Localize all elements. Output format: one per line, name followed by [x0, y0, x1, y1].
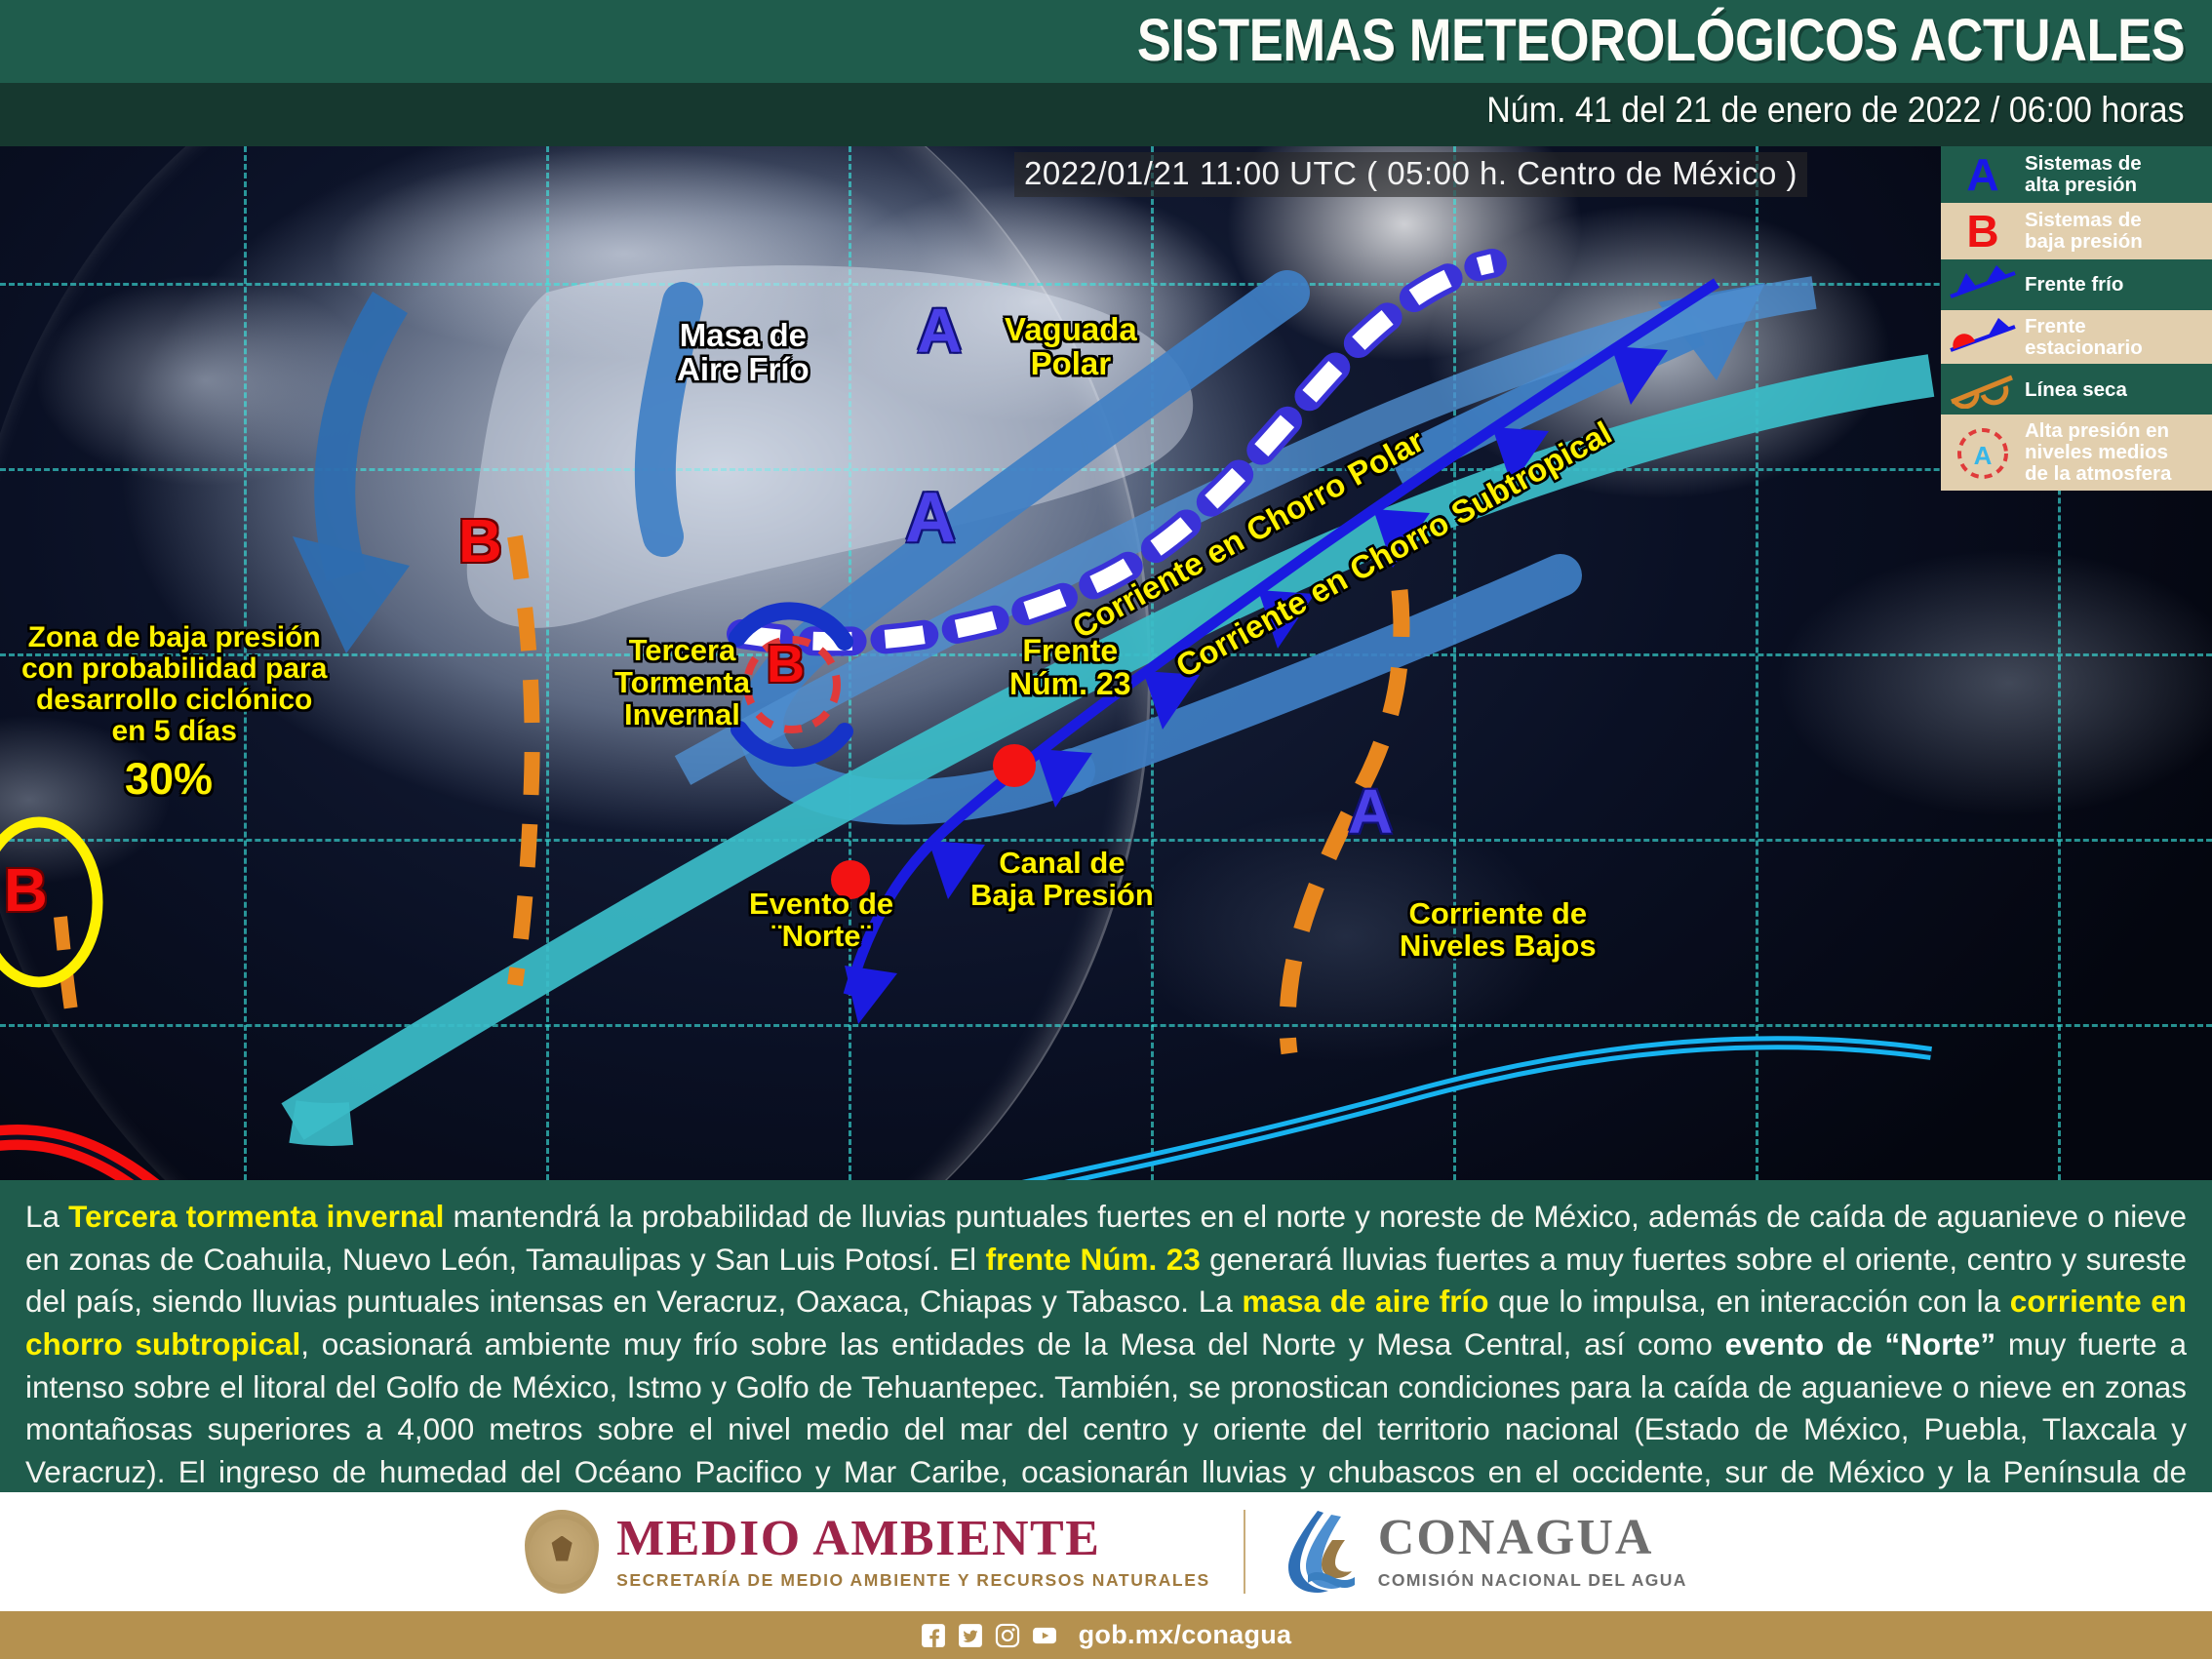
low-pressure-marker-cyclogenesis: B: [4, 856, 48, 926]
label-tercera-tormenta-invernal: TerceraTormentaInvernal: [614, 634, 750, 731]
conagua-logo: CONAGUA COMISIÓN NACIONAL DEL AGUA: [1279, 1507, 1687, 1597]
social-url[interactable]: gob.mx/conagua: [1079, 1620, 1292, 1650]
legend-row-linea-seca: Línea seca: [1941, 364, 2212, 415]
conagua-water-drop-icon: [1279, 1507, 1363, 1597]
satellite-timestamp: 2022/01/21 11:00 UTC ( 05:00 h. Centro d…: [1014, 152, 1807, 197]
low-pressure-marker-winter-storm: B: [767, 634, 805, 694]
instagram-icon[interactable]: [995, 1623, 1020, 1648]
legend-row-alta-niveles-medios: A Alta presión enniveles mediosde la atm…: [1941, 415, 2212, 490]
youtube-icon[interactable]: [1032, 1623, 1057, 1648]
label-frente-23: FrenteNúm. 23: [1009, 634, 1130, 700]
low-pressure-marker-pacific: B: [458, 507, 502, 576]
page-header: SISTEMAS METEOROLÓGICOS ACTUALES Núm. 41…: [0, 0, 2212, 146]
page-subtitle: Núm. 41 del 21 de enero de 2022 / 06:00 …: [1487, 90, 2185, 131]
letter-B-red-icon: B: [1947, 209, 2019, 254]
letter-A-blue-icon: A: [1947, 152, 2019, 197]
page-title: SISTEMAS METEOROLÓGICOS ACTUALES: [1137, 6, 2185, 74]
satellite-map: 2022/01/21 11:00 UTC ( 05:00 h. Centro d…: [0, 146, 2212, 1180]
legend-label-linea-seca: Línea seca: [2025, 379, 2127, 401]
forecast-paragraph: La Tercera tormenta invernal mantendrá l…: [0, 1180, 2212, 1492]
mid-level-high-icon: A: [1947, 423, 2019, 482]
mexican-coat-of-arms-icon: [525, 1510, 599, 1594]
label-vaguada-polar: VaguadaPolar: [1005, 312, 1137, 381]
label-zona-baja-presion: Zona de baja presióncon probabilidad par…: [21, 622, 327, 747]
dry-line-icon: [1947, 370, 2019, 409]
legend-row-alta-presion: A Sistemas dealta presión: [1941, 146, 2212, 203]
twitter-icon[interactable]: [958, 1623, 983, 1648]
medio-ambiente-logo: MEDIO AMBIENTE SECRETARÍA DE MEDIO AMBIE…: [525, 1510, 1210, 1594]
legend-row-frente-estacionario: Frenteestacionario: [1941, 310, 2212, 364]
cold-front-icon: [1947, 265, 2019, 304]
high-pressure-marker-1: A: [917, 295, 962, 367]
medio-ambiente-subtitle: SECRETARÍA DE MEDIO AMBIENTE Y RECURSOS …: [616, 1570, 1210, 1591]
label-canal-baja-presion: Canal deBaja Presión: [970, 847, 1154, 911]
conagua-subtitle: COMISIÓN NACIONAL DEL AGUA: [1378, 1570, 1687, 1591]
high-pressure-marker-2: A: [905, 478, 956, 558]
legend-label-alta-niveles-medios: Alta presión enniveles mediosde la atmos…: [2025, 420, 2171, 484]
label-corriente-niveles-bajos: Corriente deNiveles Bajos: [1400, 897, 1597, 962]
legend-row-baja-presion: B Sistemas debaja presión: [1941, 203, 2212, 259]
high-pressure-marker-3: A: [1348, 775, 1393, 848]
legend-row-frente-frio: Frente frío: [1941, 259, 2212, 310]
legend-label-frente-frio: Frente frío: [2025, 274, 2123, 296]
legend-label-baja-presion: Sistemas debaja presión: [2025, 210, 2143, 252]
stationary-front-icon: [1947, 318, 2019, 357]
social-bar: gob.mx/conagua: [0, 1611, 2212, 1659]
svg-text:A: A: [1974, 441, 1993, 470]
label-masa-aire-frio: Masa deAire Frío: [677, 318, 810, 387]
legend-label-alta-presion: Sistemas dealta presión: [2025, 153, 2142, 195]
map-legend: A Sistemas dealta presión B Sistemas deb…: [1941, 146, 2212, 491]
footer-logos: MEDIO AMBIENTE SECRETARÍA DE MEDIO AMBIE…: [0, 1492, 2212, 1611]
logo-divider: [1244, 1510, 1245, 1594]
facebook-icon[interactable]: [921, 1623, 946, 1648]
label-evento-norte: Evento de¨Norte¨: [749, 888, 893, 952]
conagua-title: CONAGUA: [1378, 1513, 1687, 1563]
legend-label-frente-estacionario: Frenteestacionario: [2025, 316, 2143, 358]
label-probabilidad-30: 30%: [125, 756, 213, 803]
medio-ambiente-title: MEDIO AMBIENTE: [616, 1514, 1210, 1564]
